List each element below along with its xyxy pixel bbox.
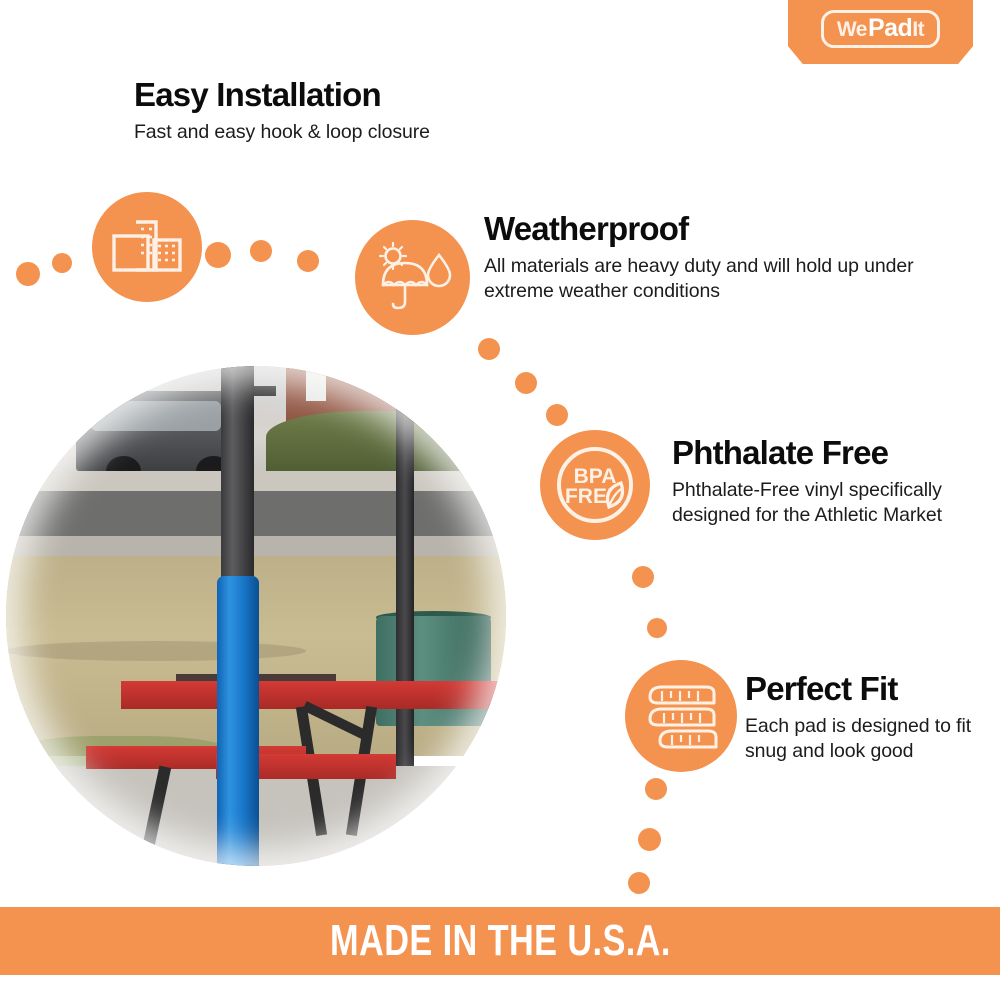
path-dot bbox=[52, 253, 72, 273]
feature-block-easy-installation: Easy Installation Fast and easy hook & l… bbox=[134, 78, 564, 145]
building-icon bbox=[92, 192, 202, 302]
feature-title: Weatherproof bbox=[484, 212, 914, 247]
photo-vignette bbox=[6, 366, 506, 866]
path-dot bbox=[16, 262, 40, 286]
made-in-usa-text: MADE IN THE U.S.A. bbox=[330, 916, 671, 966]
path-dot bbox=[647, 618, 667, 638]
feature-body: Each pad is designed to fit snug and loo… bbox=[745, 714, 985, 765]
path-dot bbox=[205, 242, 231, 268]
path-dot bbox=[546, 404, 568, 426]
feature-block-perfect-fit: Perfect Fit Each pad is designed to fit … bbox=[745, 672, 985, 765]
brand-logo-plate: We Pad It bbox=[821, 10, 940, 48]
umbrella-sun-raindrop-icon bbox=[355, 220, 470, 335]
path-dot bbox=[628, 872, 650, 894]
path-dot bbox=[250, 240, 272, 262]
path-dot bbox=[632, 566, 654, 588]
feature-block-weatherproof: Weatherproof All materials are heavy dut… bbox=[484, 212, 914, 305]
product-photo bbox=[6, 366, 506, 866]
bpa-free-icon: BPA FREE bbox=[540, 430, 650, 540]
brand-logo-it: It bbox=[912, 19, 924, 40]
path-dot bbox=[638, 828, 661, 851]
path-dot bbox=[297, 250, 319, 272]
feature-title: Easy Installation bbox=[134, 78, 564, 113]
feature-body: Fast and easy hook & loop closure bbox=[134, 120, 564, 146]
measuring-tape-icon bbox=[625, 660, 737, 772]
path-dot bbox=[515, 372, 537, 394]
path-dot bbox=[478, 338, 500, 360]
feature-title: Perfect Fit bbox=[745, 672, 985, 707]
brand-logo-we: We bbox=[837, 19, 867, 40]
brand-logo-banner: We Pad It bbox=[788, 0, 973, 64]
feature-body: Phthalate-Free vinyl specifically design… bbox=[672, 478, 972, 529]
path-dot bbox=[645, 778, 667, 800]
feature-title: Phthalate Free bbox=[672, 436, 972, 471]
brand-logo-pad: Pad bbox=[868, 16, 912, 41]
feature-body: All materials are heavy duty and will ho… bbox=[484, 254, 914, 305]
made-in-usa-banner: MADE IN THE U.S.A. bbox=[0, 907, 1000, 975]
feature-block-phthalate-free: Phthalate Free Phthalate-Free vinyl spec… bbox=[672, 436, 972, 529]
